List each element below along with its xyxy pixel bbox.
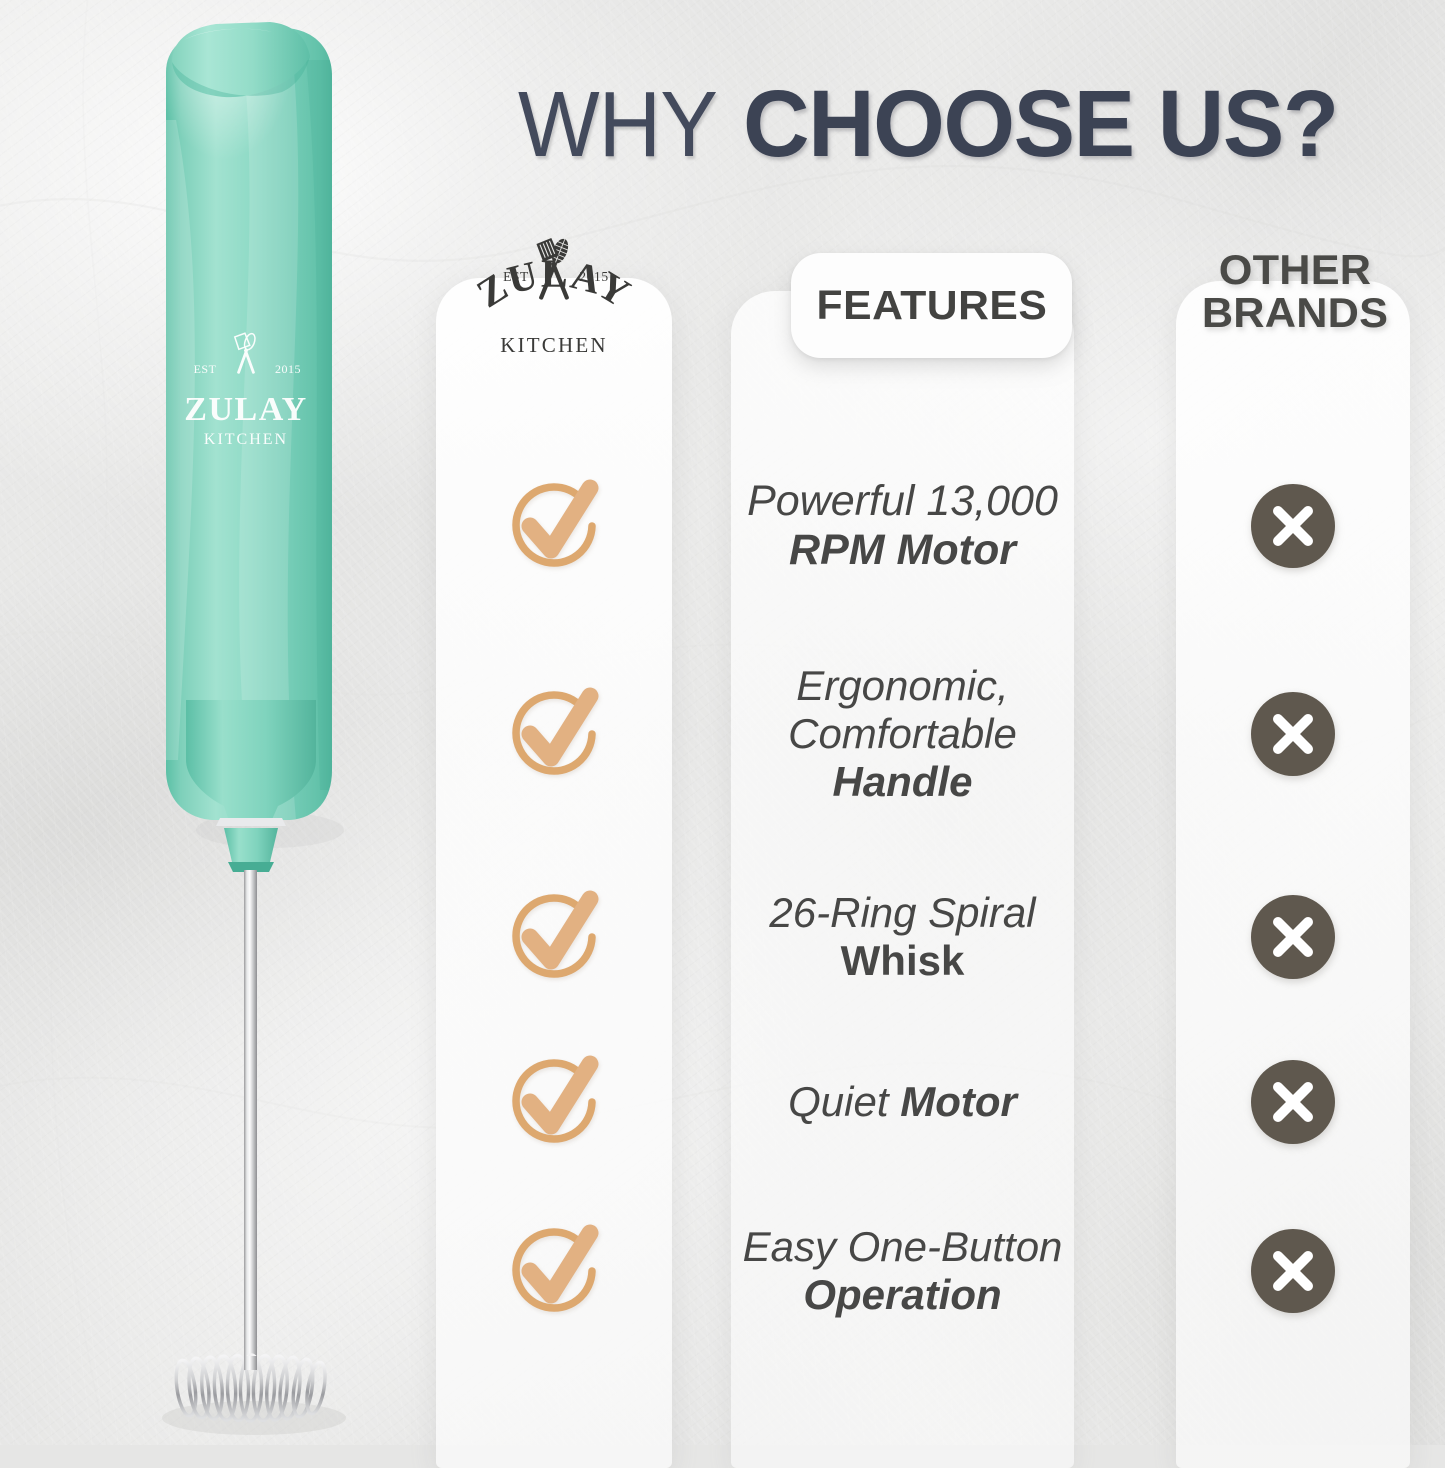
other-brand-cross-cell bbox=[1176, 483, 1410, 569]
feature-regular-text: Comfortable bbox=[731, 710, 1074, 758]
other-brand-cross-cell bbox=[1176, 1059, 1410, 1145]
feature-bold-text: Handle bbox=[731, 758, 1074, 806]
zulay-check-cell bbox=[436, 885, 672, 989]
feature-text-cell: Powerful 13,000RPM Motor bbox=[731, 477, 1074, 575]
feature-regular-text: Easy One-Button bbox=[731, 1223, 1074, 1271]
other-brands-line1: OTHER bbox=[1182, 248, 1409, 291]
svg-text:ZULAY: ZULAY bbox=[184, 391, 307, 428]
check-circle-icon bbox=[502, 1050, 606, 1154]
frother-shaft bbox=[244, 870, 257, 1368]
zulay-kitchen-logo: EST 2015 ZULAY KITCHEN bbox=[460, 236, 648, 361]
other-brand-cross-cell bbox=[1176, 894, 1410, 980]
feature-regular-text: Quiet bbox=[788, 1078, 900, 1125]
cross-circle-icon bbox=[1250, 894, 1336, 980]
svg-text:2015: 2015 bbox=[275, 362, 301, 376]
zulay-check-cell bbox=[436, 682, 672, 786]
feature-text-cell: Ergonomic,ComfortableHandle bbox=[731, 662, 1074, 806]
check-circle-icon bbox=[502, 885, 606, 989]
other-brands-header: OTHER BRANDS bbox=[1185, 248, 1405, 335]
frother-cap bbox=[172, 22, 310, 97]
page-title: WHY CHOOSE US? bbox=[455, 78, 1405, 170]
logo-brand-name: ZULAY bbox=[469, 251, 639, 317]
features-header-pill: FEATURES bbox=[791, 253, 1072, 358]
feature-bold-text: Whisk bbox=[731, 937, 1074, 985]
cross-circle-icon bbox=[1250, 1228, 1336, 1314]
cross-circle-icon bbox=[1250, 483, 1336, 569]
zulay-check-cell bbox=[436, 1219, 672, 1323]
feature-bold-text: Motor bbox=[900, 1078, 1017, 1125]
milk-frother-product-image: EST 2015 ZULAY KITCHEN bbox=[120, 0, 400, 1445]
zulay-check-cell bbox=[436, 1050, 672, 1154]
title-bold-words: CHOOSE US? bbox=[743, 70, 1338, 179]
feature-text-cell: Easy One-ButtonOperation bbox=[731, 1223, 1074, 1319]
zulay-check-cell bbox=[436, 474, 672, 578]
cross-circle-icon bbox=[1250, 1059, 1336, 1145]
check-circle-icon bbox=[502, 1219, 606, 1323]
feature-text-cell: Quiet Motor bbox=[731, 1078, 1074, 1126]
title-light-word: WHY bbox=[518, 71, 717, 178]
feature-bold-text: Operation bbox=[731, 1271, 1074, 1319]
other-brand-cross-cell bbox=[1176, 691, 1410, 777]
svg-text:KITCHEN: KITCHEN bbox=[204, 431, 288, 448]
feature-regular-text: Ergonomic, bbox=[731, 662, 1074, 710]
check-circle-icon bbox=[502, 474, 606, 578]
feature-regular-text: Powerful 13,000 bbox=[731, 477, 1074, 526]
check-circle-icon bbox=[502, 682, 606, 786]
cross-circle-icon bbox=[1250, 691, 1336, 777]
svg-text:EST: EST bbox=[194, 362, 217, 376]
feature-text-cell: 26-Ring SpiralWhisk bbox=[731, 889, 1074, 985]
feature-bold-text: RPM Motor bbox=[731, 526, 1074, 575]
feature-regular-text: 26-Ring Spiral bbox=[731, 889, 1074, 937]
logo-sub: KITCHEN bbox=[500, 333, 608, 357]
features-header-label: FEATURES bbox=[816, 282, 1047, 329]
other-brands-line2: BRANDS bbox=[1182, 291, 1409, 334]
other-brand-cross-cell bbox=[1176, 1228, 1410, 1314]
